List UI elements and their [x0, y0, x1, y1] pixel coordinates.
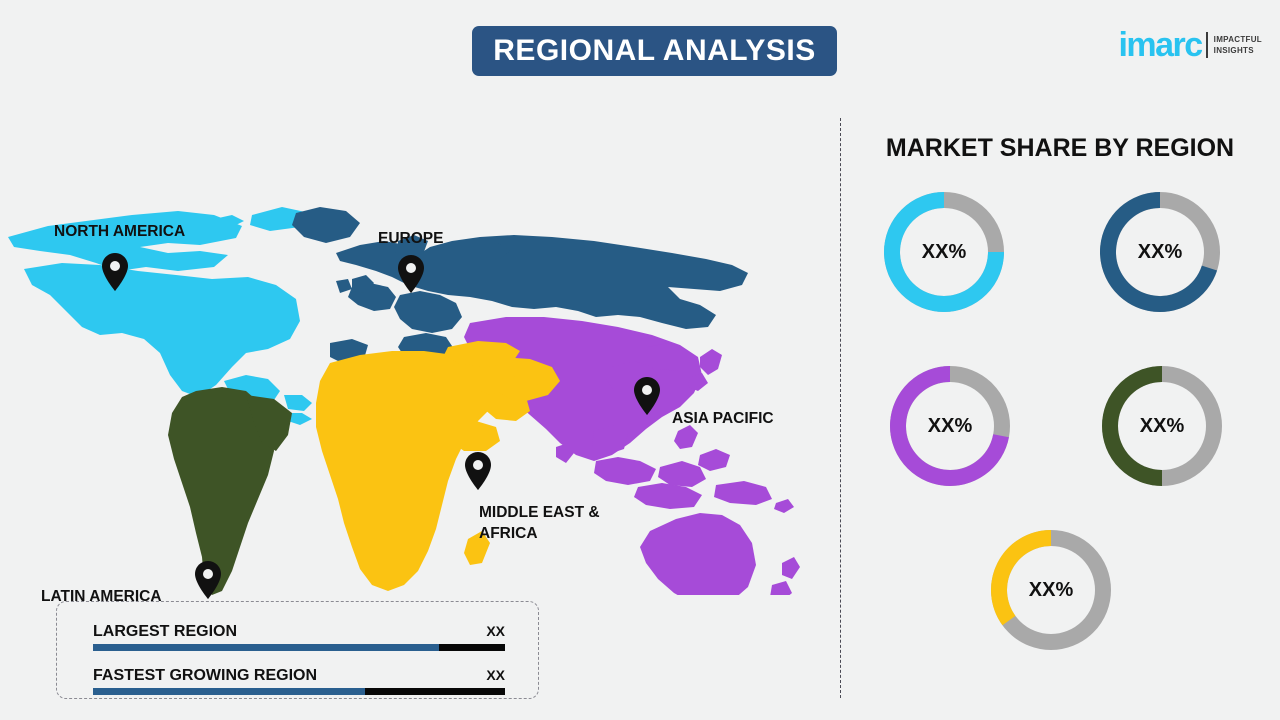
logo-tagline-line2: INSIGHTS	[1214, 45, 1262, 56]
world-map-panel: NORTH AMERICA EUROPE ASIA PACIFIC MIDDLE…	[0, 95, 830, 595]
donut-chart-europe[interactable]: XX%	[1092, 184, 1228, 320]
donut-value-europe: XX%	[1092, 184, 1228, 320]
vertical-dashed-divider	[840, 118, 841, 698]
world-map-graphic	[0, 95, 830, 595]
legend-label-largest-region: LARGEST REGION	[93, 623, 237, 641]
donut-chart-north-america[interactable]: XX%	[876, 184, 1012, 320]
map-pin-icon-middle-east-africa[interactable]	[464, 452, 492, 490]
logo-tagline: IMPACTFUL INSIGHTS	[1214, 32, 1262, 58]
donut-value-latin-america: XX%	[1094, 358, 1230, 494]
map-pin-icon-north-america[interactable]	[101, 253, 129, 291]
donut-chart-middle-east-africa[interactable]: XX%	[983, 522, 1119, 658]
donut-chart-asia-pacific[interactable]: XX%	[882, 358, 1018, 494]
market-share-title: MARKET SHARE BY REGION	[850, 134, 1270, 163]
map-pin-icon-latin-america[interactable]	[194, 561, 222, 599]
legend-bar-fill-largest-region	[93, 644, 439, 651]
legend-bar-fastest-growing-region	[93, 688, 505, 695]
legend-value-fastest-growing-region: XX	[486, 667, 505, 683]
legend-bar-fill-fastest-growing-region	[93, 688, 365, 695]
logo-divider	[1206, 32, 1208, 58]
legend-bar-largest-region	[93, 644, 505, 651]
market-share-panel: MARKET SHARE BY REGION XX% XX% XX% XX% X…	[850, 118, 1280, 698]
map-pin-icon-asia-pacific[interactable]	[633, 377, 661, 415]
legend-row-fastest-growing-region: FASTEST GROWING REGION XX	[93, 667, 505, 695]
map-label-middle-east-africa: MIDDLE EAST & AFRICA	[479, 502, 629, 544]
map-label-north-america: NORTH AMERICA	[54, 221, 185, 242]
page-title: REGIONAL ANALYSIS	[493, 34, 815, 68]
region-summary-box: LARGEST REGION XX FASTEST GROWING REGION…	[56, 601, 539, 699]
donut-value-middle-east-africa: XX%	[983, 522, 1119, 658]
legend-row-largest-region: LARGEST REGION XX	[93, 623, 505, 651]
map-label-europe: EUROPE	[378, 228, 443, 249]
map-label-asia-pacific: ASIA PACIFIC	[672, 408, 774, 429]
legend-value-largest-region: XX	[486, 623, 505, 639]
legend-label-fastest-growing-region: FASTEST GROWING REGION	[93, 667, 317, 685]
imarc-logo: imarc IMPACTFUL INSIGHTS	[1118, 20, 1262, 60]
map-pin-icon-europe[interactable]	[397, 255, 425, 293]
map-region-middle-east-africa[interactable]	[316, 341, 560, 591]
page-title-banner: REGIONAL ANALYSIS	[472, 26, 837, 76]
map-region-latin-america[interactable]	[168, 387, 292, 595]
donut-value-north-america: XX%	[876, 184, 1012, 320]
logo-tagline-line1: IMPACTFUL	[1214, 34, 1262, 45]
donut-value-asia-pacific: XX%	[882, 358, 1018, 494]
imarc-wordmark: imarc	[1118, 30, 1201, 60]
donut-chart-latin-america[interactable]: XX%	[1094, 358, 1230, 494]
